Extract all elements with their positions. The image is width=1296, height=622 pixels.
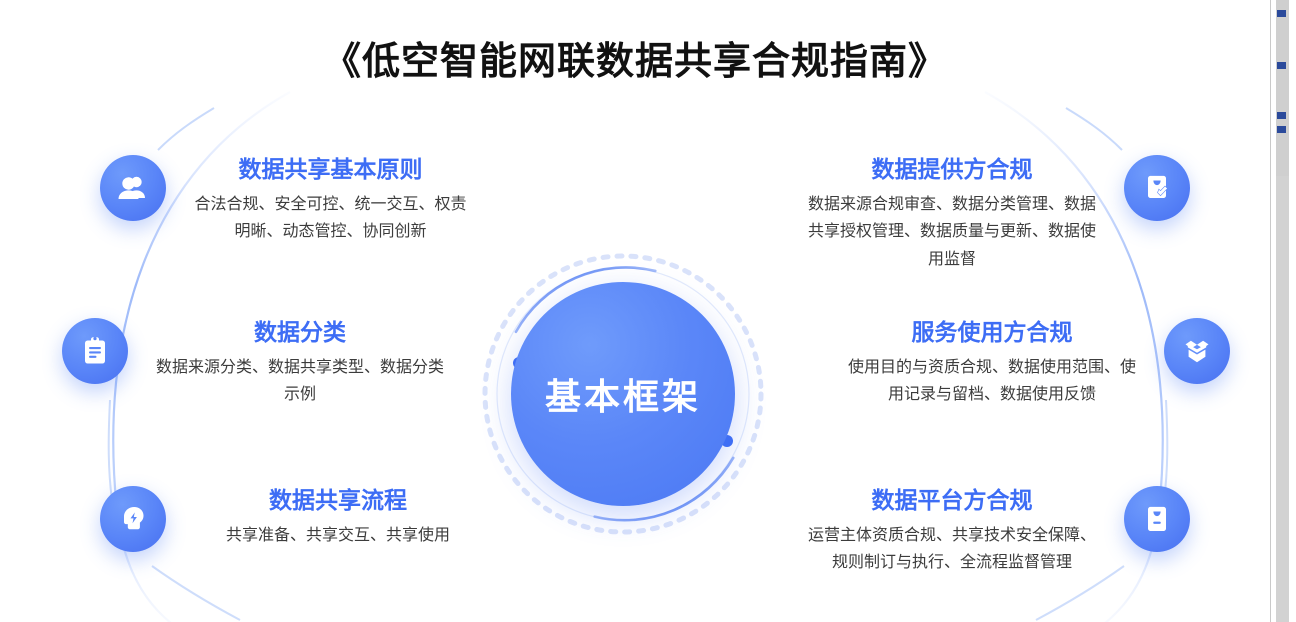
center-label: 基本框架 — [545, 368, 701, 420]
item-text: 服务使用方合规 使用目的与资质合规、数据使用范围、使用记录与留档、数据使用反馈 — [842, 318, 1142, 409]
page-title: 《低空智能网联数据共享合规指南》 — [0, 30, 1270, 85]
item-text: 数据分类 数据来源分类、数据共享类型、数据分类示例 — [150, 318, 450, 409]
item-title: 数据分类 — [150, 318, 450, 347]
item-data-classification[interactable]: 数据分类 数据来源分类、数据共享类型、数据分类示例 — [62, 318, 450, 409]
item-description: 共享准备、共享交互、共享使用 — [188, 522, 488, 550]
item-description: 使用目的与资质合规、数据使用范围、使用记录与留档、数据使用反馈 — [842, 354, 1142, 409]
window-scrollbar-strip[interactable] — [1270, 0, 1296, 622]
item-title: 数据平台方合规 — [802, 486, 1102, 515]
item-data-platform-compliance[interactable]: 数据平台方合规 运营主体资质合规、共享技术安全保障、规则制订与执行、全流程监督管… — [802, 486, 1190, 577]
item-data-provider-compliance[interactable]: 数据提供方合规 数据来源合规审查、数据分类管理、数据共享授权管理、数据质量与更新… — [802, 155, 1190, 273]
item-text: 数据平台方合规 运营主体资质合规、共享技术安全保障、规则制订与执行、全流程监督管… — [802, 486, 1102, 577]
item-description: 合法合规、安全可控、统一交互、权责明晰、动态管控、协同创新 — [188, 191, 473, 246]
item-title: 数据提供方合规 — [802, 155, 1102, 184]
item-title: 服务使用方合规 — [842, 318, 1142, 347]
item-data-sharing-process[interactable]: 数据共享流程 共享准备、共享交互、共享使用 — [100, 486, 488, 552]
item-title: 数据共享基本原则 — [188, 155, 473, 184]
scroll-marker-top — [1277, 10, 1286, 17]
item-title: 数据共享流程 — [188, 486, 488, 515]
item-text: 数据提供方合规 数据来源合规审查、数据分类管理、数据共享授权管理、数据质量与更新… — [802, 155, 1102, 273]
item-text: 数据共享流程 共享准备、共享交互、共享使用 — [188, 486, 488, 549]
item-description: 数据来源合规审查、数据分类管理、数据共享授权管理、数据质量与更新、数据使用监督 — [802, 191, 1102, 274]
scroll-marker-low — [1277, 112, 1286, 119]
open-box-icon — [1164, 318, 1230, 384]
clipboard-check-icon — [1124, 155, 1190, 221]
infographic-canvas: 《低空智能网联数据共享合规指南》 基本框架 数据共享基本原则 — [0, 0, 1296, 622]
document-icon — [1124, 486, 1190, 552]
clipboard-lines-icon — [62, 318, 128, 384]
item-data-sharing-principles[interactable]: 数据共享基本原则 合法合规、安全可控、统一交互、权责明晰、动态管控、协同创新 — [100, 155, 473, 246]
head-lightning-icon — [100, 486, 166, 552]
item-service-user-compliance[interactable]: 服务使用方合规 使用目的与资质合规、数据使用范围、使用记录与留档、数据使用反馈 — [842, 318, 1230, 409]
item-description: 数据来源分类、数据共享类型、数据分类示例 — [150, 354, 450, 409]
users-icon — [100, 155, 166, 221]
center-circle: 基本框架 — [511, 282, 735, 506]
scroll-marker-mid — [1277, 62, 1286, 69]
center-framework-node: 基本框架 — [478, 249, 768, 539]
scrollbar-thumb[interactable] — [1276, 0, 1289, 176]
scroll-marker-bottom — [1277, 126, 1286, 133]
item-description: 运营主体资质合规、共享技术安全保障、规则制订与执行、全流程监督管理 — [802, 522, 1102, 577]
item-text: 数据共享基本原则 合法合规、安全可控、统一交互、权责明晰、动态管控、协同创新 — [188, 155, 473, 246]
